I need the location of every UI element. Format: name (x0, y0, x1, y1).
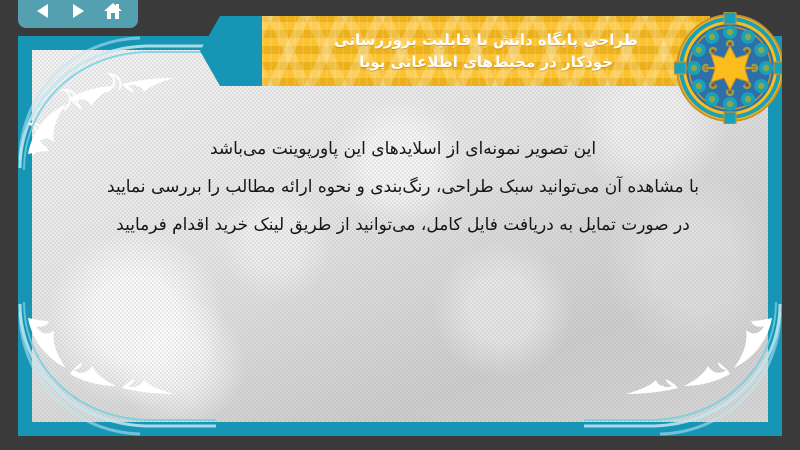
body-line-3: در صورت تمایل به دریافت فایل کامل، می‌تو… (40, 206, 766, 244)
body-line-2: با مشاهده آن می‌توانید سبک طراحی، رنگ‌بن… (40, 168, 766, 206)
right-dark-strip (782, 0, 800, 450)
slide-body-text: این تصویر نمونه‌ای از اسلایدهای این پاور… (40, 130, 766, 244)
home-icon[interactable] (100, 0, 126, 23)
bottom-dark-strip (0, 436, 800, 450)
title-banner: طراحی پایگاه دانش با قابلیت بروزرسانی خو… (200, 16, 710, 86)
title-line-1: طراحی پایگاه دانش با قابلیت بروزرسانی (334, 29, 638, 52)
navigation-bar (18, 0, 138, 28)
body-line-1: این تصویر نمونه‌ای از اسلایدهای این پاور… (40, 130, 766, 168)
title-arrow-connector (200, 16, 262, 86)
title-band: طراحی پایگاه دانش با قابلیت بروزرسانی خو… (262, 16, 710, 86)
title-line-2: خودکار در محیط‌های اطلاعاتی پویا (359, 51, 613, 74)
circular-mandala-ornament-icon (674, 12, 786, 124)
previous-triangle-icon[interactable] (30, 0, 56, 23)
left-dark-strip (0, 0, 18, 450)
next-triangle-icon[interactable] (65, 0, 91, 23)
slide-root: طراحی پایگاه دانش با قابلیت بروزرسانی خو… (0, 0, 800, 450)
